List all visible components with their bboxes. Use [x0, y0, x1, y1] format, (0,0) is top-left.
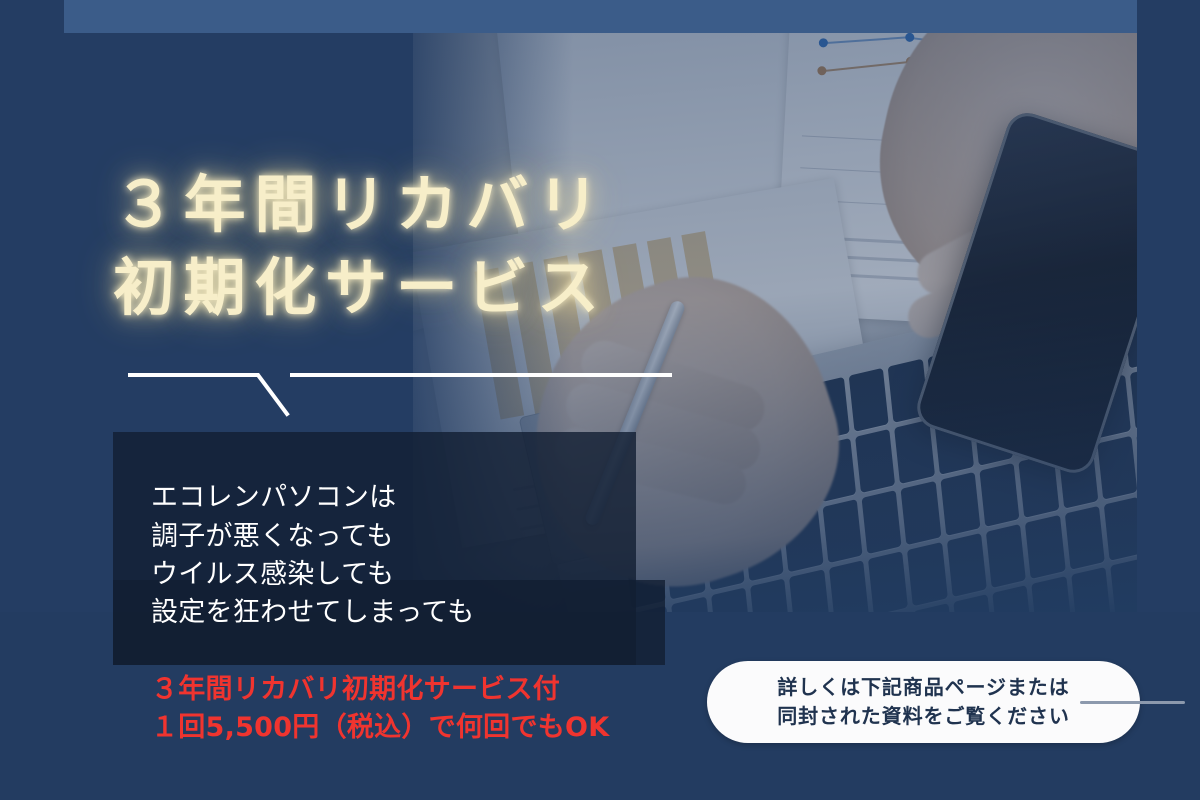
accent-copy-lines: ３年間リカバリ初期化サービス付 １回5,500円（税込）で何回でもOK	[151, 671, 671, 748]
callout-pill-tail-line	[1080, 701, 1185, 704]
banner-canvas: ３年間リカバリ 初期化サービス エコレンパソコンは 調子が悪くなっても ウイルス…	[0, 0, 1200, 800]
page-title: ３年間リカバリ 初期化サービス	[113, 163, 873, 329]
body-copy-lines: エコレンパソコンは 調子が悪くなっても ウイルス感染しても 設定を狂わせてしまっ…	[151, 479, 671, 632]
body-copy: エコレンパソコンは 調子が悪くなっても ウイルス感染しても 設定を狂わせてしまっ…	[151, 441, 671, 786]
callout-pill-label: 詳しくは下記商品ページまたは 同封された資料をご覧ください	[777, 673, 1070, 731]
top-accent-bar	[64, 0, 1137, 33]
callout-pill[interactable]: 詳しくは下記商品ページまたは 同封された資料をご覧ください	[707, 661, 1140, 743]
